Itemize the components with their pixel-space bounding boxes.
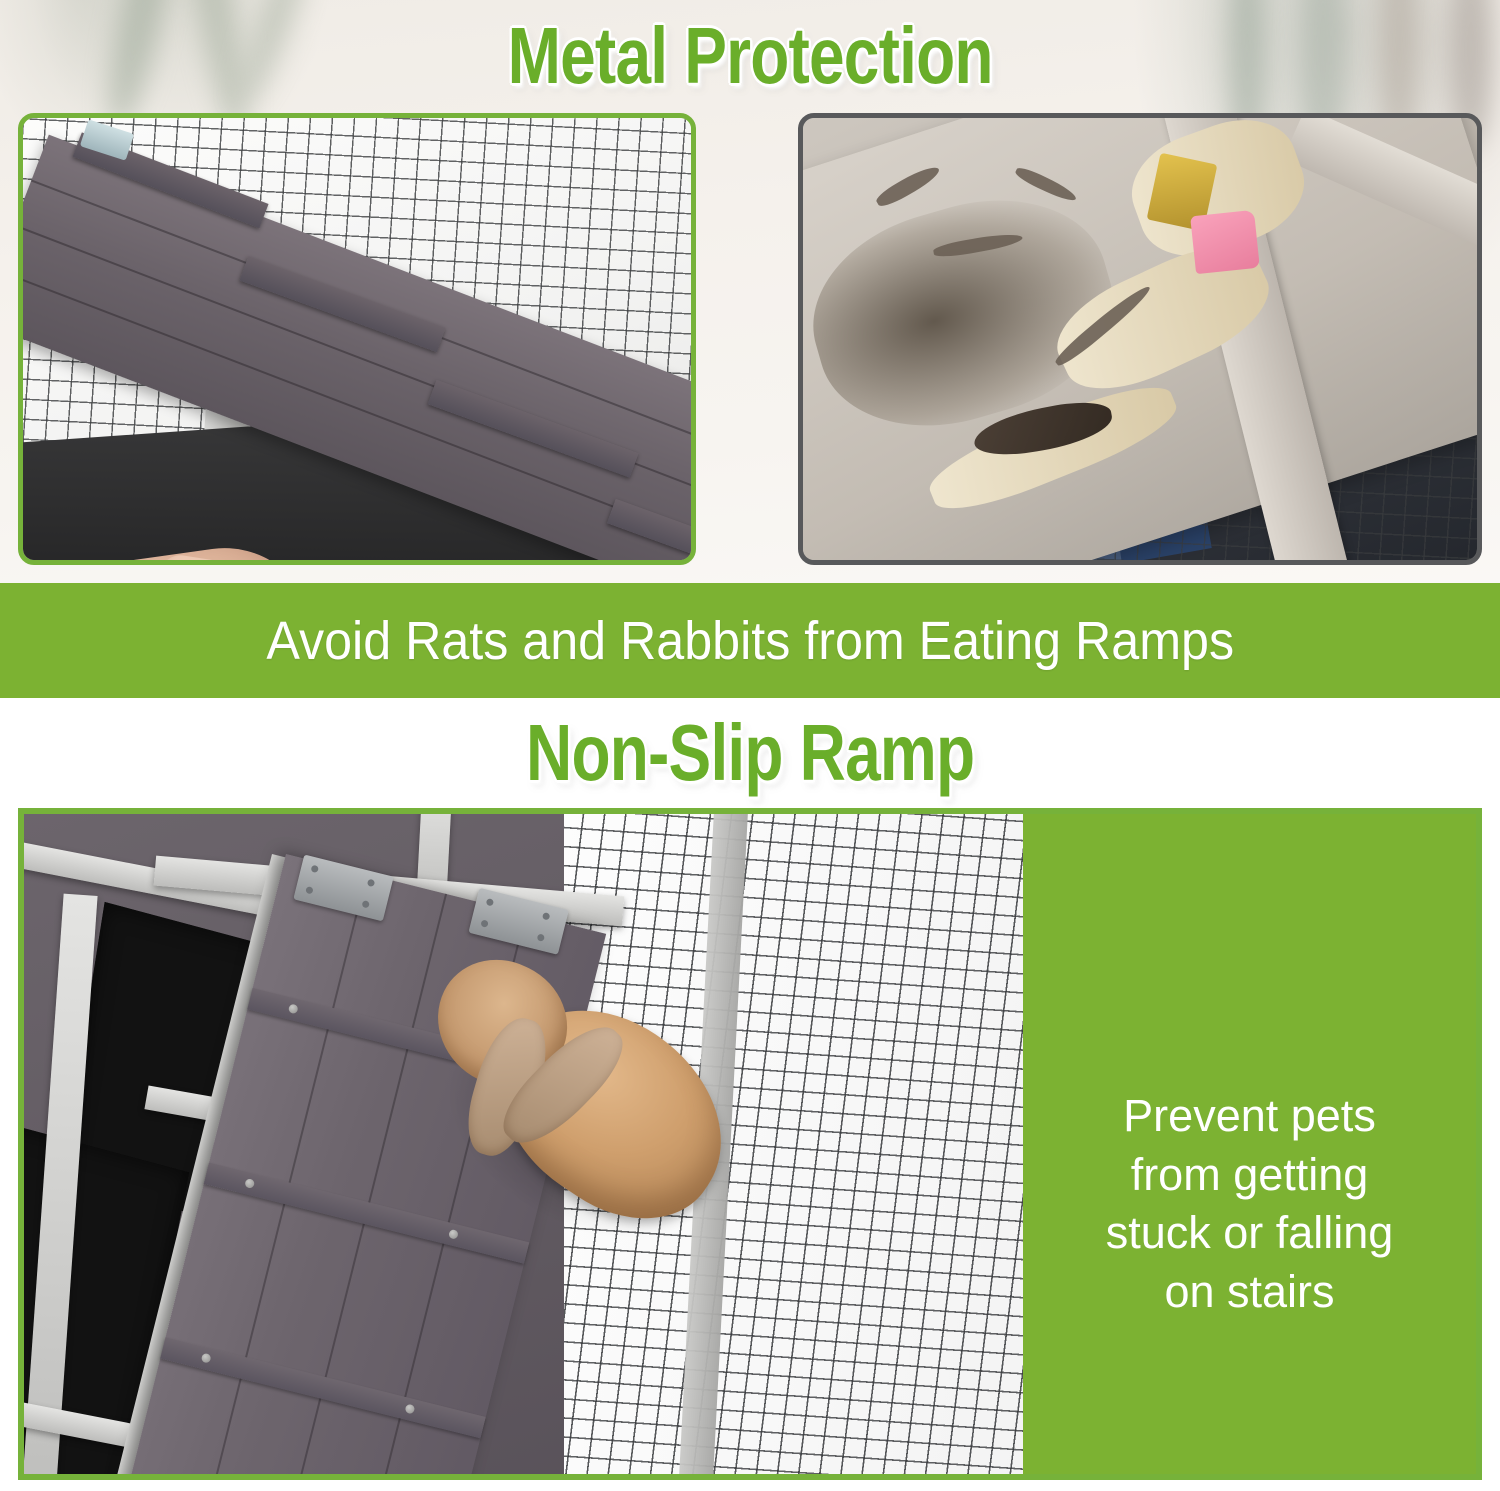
callout-line-2: from getting [1106, 1146, 1394, 1205]
photo-ramp-in-hand [18, 113, 696, 565]
callout-line-4: on stairs [1106, 1263, 1394, 1322]
photo-ramp-in-hand-scene [23, 118, 691, 560]
pink-object [1190, 210, 1260, 274]
screw [288, 1003, 299, 1014]
benefit-banner-avoid-eating: Avoid Rats and Rabbits from Eating Ramps [0, 583, 1500, 698]
callout-line-3: stuck or falling [1106, 1204, 1394, 1263]
ramp-cross-slat [607, 499, 691, 560]
screw [201, 1353, 212, 1364]
photo-rabbit-on-ramp [24, 814, 1023, 1474]
metal-protection-title-area: Metal Protection [0, 0, 1500, 112]
metal-protection-section: Metal Protection [0, 0, 1500, 583]
screw [404, 1404, 415, 1415]
ramp-cross-slat [428, 380, 639, 478]
photo-chewed-ramp-scene [803, 118, 1477, 560]
benefit-callout-panel: Prevent pets from getting stuck or falli… [1023, 814, 1476, 1474]
callout-line-1: Prevent pets [1106, 1087, 1394, 1146]
ramp-cross-slat [160, 1337, 486, 1438]
photo-chewed-ramp-damage [798, 113, 1482, 565]
banner-text: Avoid Rats and Rabbits from Eating Ramps [266, 610, 1234, 672]
screw [244, 1178, 255, 1189]
page-title-metal-protection: Metal Protection [507, 10, 992, 102]
non-slip-ramp-section: Prevent pets from getting stuck or falli… [18, 808, 1482, 1480]
page-title-non-slip-ramp: Non-Slip Ramp [526, 707, 974, 799]
screw [448, 1229, 459, 1240]
non-slip-ramp-title-area: Non-Slip Ramp [0, 700, 1500, 805]
benefit-callout-text: Prevent pets from getting stuck or falli… [1106, 967, 1394, 1321]
